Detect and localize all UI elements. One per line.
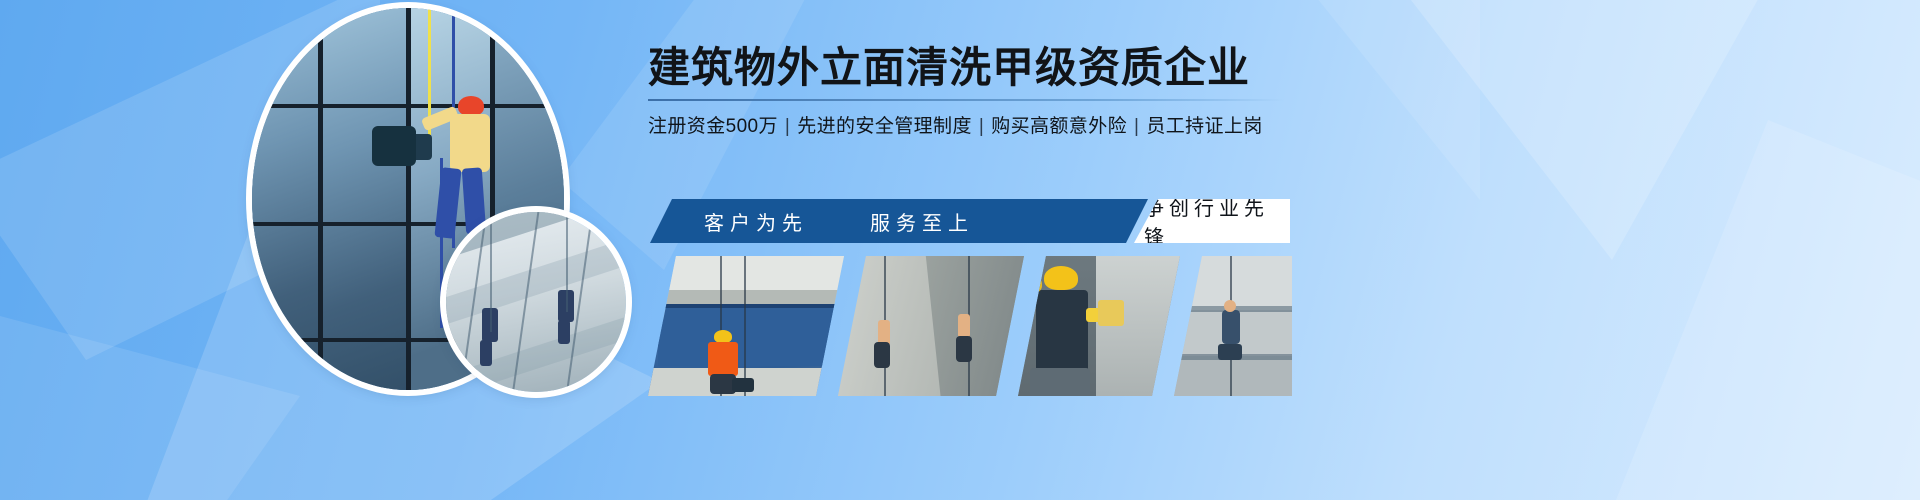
background-facet-shape	[1380, 0, 1780, 260]
subtitle-part-4: 员工持证上岗	[1146, 116, 1262, 137]
banner-text-block: 建筑物外立面清洗甲级资质企业 注册资金500万|先进的安全管理制度|购买高额意外…	[648, 44, 1308, 138]
subtitle-separator: |	[785, 116, 790, 137]
photo-worker-in-yellow-helmet-plastering	[1018, 256, 1180, 396]
slogan-ribbon: 客户为先 服务至上 争创行业先锋	[650, 199, 1290, 243]
promo-banner: 建筑物外立面清洗甲级资质企业 注册资金500万|先进的安全管理制度|购买高额意外…	[0, 0, 1920, 500]
photo-strip	[648, 256, 1288, 396]
facade-workers-scene	[446, 212, 626, 392]
subtitle-part-2: 先进的安全管理制度	[797, 116, 972, 137]
slogan-2: 服务至上	[870, 207, 974, 236]
slogan-3: 争创行业先锋	[1144, 192, 1290, 250]
headline-divider	[648, 99, 1284, 101]
slogan-ribbon-white-section: 争创行业先锋	[1134, 199, 1290, 243]
photo-two-workers-on-grey-wall	[838, 256, 1024, 396]
subtitle-part-3: 购买高额意外险	[991, 116, 1127, 137]
photo-worker-on-apartment-balcony	[1174, 256, 1292, 396]
slogan-1: 客户为先	[704, 207, 808, 236]
subtitle-separator: |	[1134, 116, 1139, 137]
slogan-ribbon-blue-section: 客户为先 服务至上	[650, 199, 1148, 243]
subtitle-part-1: 注册资金500万	[648, 116, 778, 137]
background-facet-shape	[1600, 120, 1920, 500]
subtitle-separator: |	[979, 116, 984, 137]
photo-rope-access-workers-on-building	[446, 212, 626, 392]
banner-headline: 建筑物外立面清洗甲级资质企业	[648, 44, 1308, 91]
banner-subtitle: 注册资金500万|先进的安全管理制度|购买高额意外险|员工持证上岗	[648, 111, 1308, 138]
photo-worker-in-orange-vest-rappelling	[648, 256, 844, 396]
